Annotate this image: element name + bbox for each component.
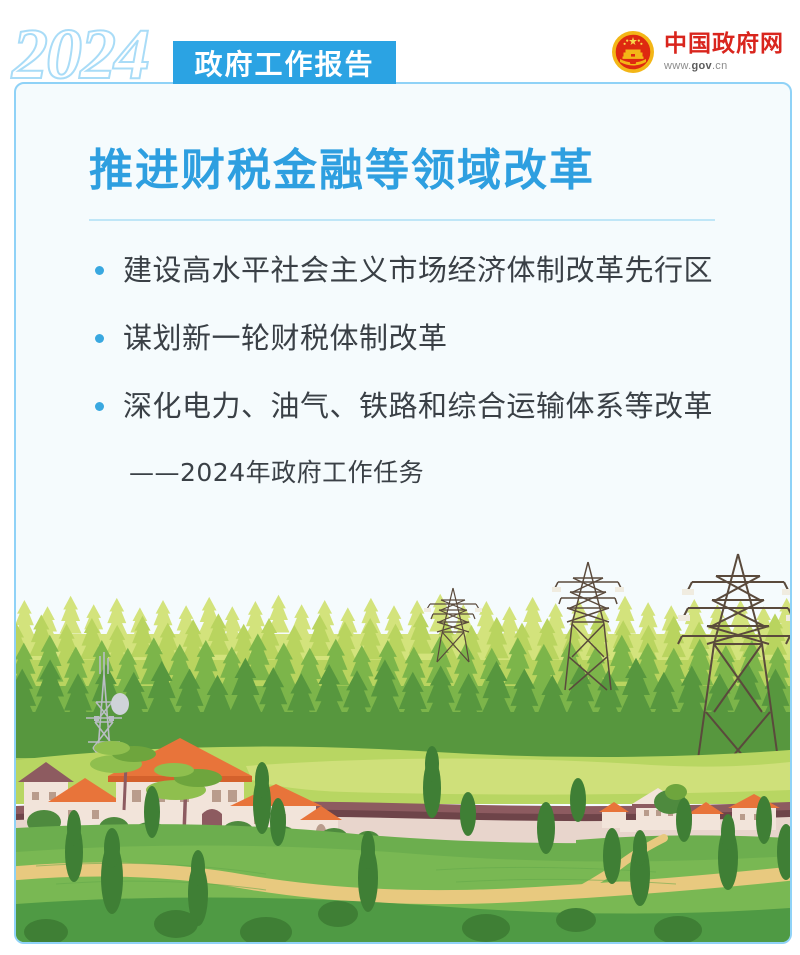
report-title-badge: 政府工作报告 bbox=[173, 41, 396, 84]
gov-cn-logo[interactable]: 中国政府网 www.gov.cn bbox=[611, 30, 784, 74]
content-card: 推进财税金融等领域改革 建设高水平社会主义市场经济体制改革先行区 谋划新一轮财税… bbox=[14, 82, 792, 944]
blue-dot-icon bbox=[95, 402, 104, 411]
gov-cn-site-name: 中国政府网 bbox=[664, 33, 784, 56]
list-item-label: 谋划新一轮财税体制改革 bbox=[123, 321, 448, 355]
year-outline-text: 2024 bbox=[12, 18, 148, 90]
page-title: 推进财税金融等领域改革 bbox=[89, 146, 730, 197]
blue-dot-icon bbox=[95, 334, 104, 343]
list-item-label: 深化电力、油气、铁路和综合运输体系等改革 bbox=[123, 389, 713, 423]
list-item: 深化电力、油气、铁路和综合运输体系等改革 bbox=[89, 385, 730, 427]
gov-cn-site-url: www.gov.cn bbox=[664, 61, 784, 72]
blue-dot-icon bbox=[95, 266, 104, 275]
rural-landscape-illustration bbox=[16, 552, 790, 942]
poster-root: 2024 政府工作报告 bbox=[0, 0, 800, 955]
bullet-list: 建设高水平社会主义市场经济体制改革先行区 谋划新一轮财税体制改革 深化电力、油气… bbox=[89, 249, 730, 427]
china-national-emblem-icon bbox=[611, 30, 655, 74]
list-item-label: 建设高水平社会主义市场经济体制改革先行区 bbox=[123, 253, 713, 287]
list-item: 谋划新一轮财税体制改革 bbox=[89, 317, 730, 359]
report-title-badge-label: 政府工作报告 bbox=[194, 43, 374, 83]
list-item: 建设高水平社会主义市场经济体制改革先行区 bbox=[89, 249, 730, 291]
title-divider bbox=[89, 219, 715, 221]
attribution-text: ——2024年政府工作任务 bbox=[89, 453, 730, 489]
text-block: 推进财税金融等领域改革 建设高水平社会主义市场经济体制改革先行区 谋划新一轮财税… bbox=[89, 146, 730, 489]
gov-cn-logo-text: 中国政府网 www.gov.cn bbox=[664, 33, 784, 72]
